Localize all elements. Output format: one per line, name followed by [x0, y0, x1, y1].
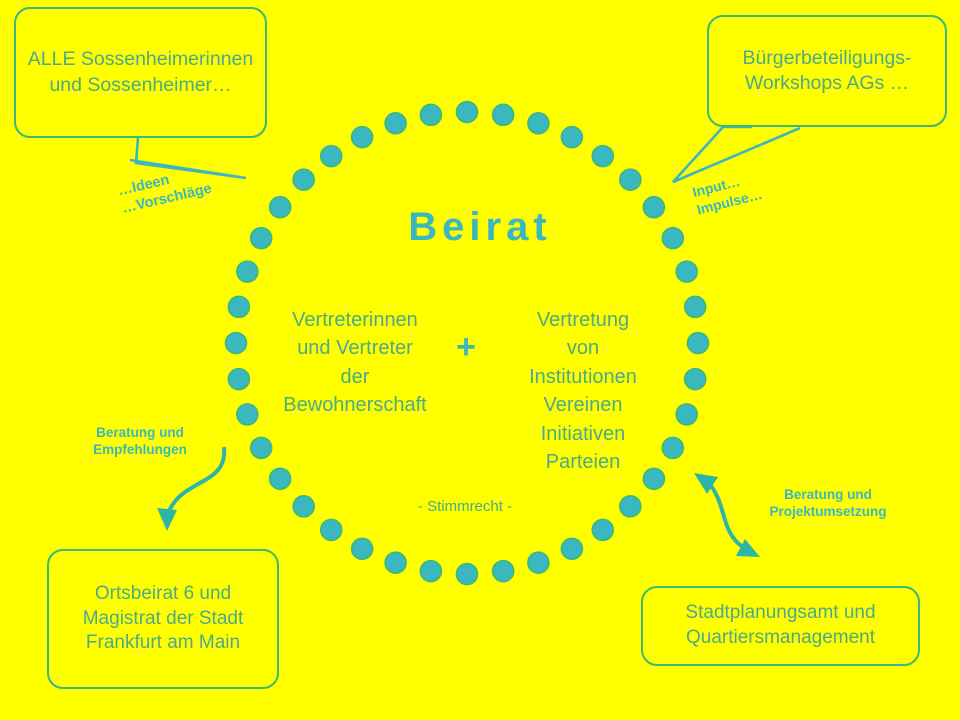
- ring-dot: [528, 552, 549, 573]
- ring-dot: [688, 333, 709, 354]
- column-bewohnerschaft: Vertreterinnen und Vertreter der Bewohne…: [262, 306, 448, 420]
- ring-dot: [293, 496, 314, 517]
- label-beratung-empfehlungen: Beratung und Empfehlungen: [72, 425, 208, 459]
- column-institutionen: Vertretung von Institutionen Vereinen In…: [490, 306, 676, 476]
- ring-dot: [237, 404, 258, 425]
- ring-dot: [685, 369, 706, 390]
- ring-dot: [385, 113, 406, 134]
- speech-bubble-alle: ALLE Sossenheimerinnen und Sossenheimer…: [14, 7, 267, 138]
- box-stadtplanungsamt: Stadtplanungsamt und Quartiersmanagement: [641, 586, 920, 666]
- box-stadtplanungsamt-text: Stadtplanungsamt und Quartiersmanagement: [643, 599, 918, 652]
- ring-dot: [228, 369, 249, 390]
- ring-dot: [493, 104, 514, 125]
- ring-dot: [457, 102, 478, 123]
- arrow-beratung-empfehlungen: [157, 447, 224, 531]
- ring-dot: [321, 146, 342, 167]
- ring-dot: [561, 127, 582, 148]
- ring-dot: [321, 519, 342, 540]
- ring-dot: [676, 261, 697, 282]
- ring-dot: [620, 169, 641, 190]
- ring-dot: [226, 333, 247, 354]
- box-ortsbeirat: Ortsbeirat 6 und Magistrat der Stadt Fra…: [47, 549, 279, 689]
- speech-bubble-workshops: Bürgerbeteiligungs- Workshops AGs …: [707, 15, 947, 127]
- ring-dot: [352, 127, 373, 148]
- box-ortsbeirat-text: Ortsbeirat 6 und Magistrat der Stadt Fra…: [49, 580, 277, 658]
- ring-dot: [420, 104, 441, 125]
- ring-dot: [561, 538, 582, 559]
- label-beratung-projektumsetzung: Beratung und Projektumsetzung: [745, 487, 911, 521]
- ring-dot: [293, 169, 314, 190]
- ring-dot: [251, 437, 272, 458]
- ring-dot: [592, 146, 613, 167]
- ring-dot: [352, 538, 373, 559]
- ring-dot: [457, 564, 478, 585]
- ring-dot: [270, 468, 291, 489]
- ring-dot: [228, 296, 249, 317]
- ring-dot: [528, 113, 549, 134]
- diagram-canvas: ALLE Sossenheimerinnen und Sossenheimer……: [0, 0, 960, 720]
- ring-dot: [385, 552, 406, 573]
- ring-dot: [592, 519, 613, 540]
- ring-dot: [493, 561, 514, 582]
- ring-dot: [620, 496, 641, 517]
- ring-dot: [676, 404, 697, 425]
- footnote-stimmrecht: - Stimmrecht -: [350, 498, 580, 515]
- ring-dot: [420, 561, 441, 582]
- title-beirat: Beirat: [0, 205, 960, 250]
- speech-bubble-alle-text: ALLE Sossenheimerinnen und Sossenheimer…: [16, 45, 265, 100]
- speech-bubble-workshops-text: Bürgerbeteiligungs- Workshops AGs …: [709, 44, 945, 99]
- ring-dot: [237, 261, 258, 282]
- plus-icon: +: [443, 328, 489, 367]
- ring-dot: [685, 296, 706, 317]
